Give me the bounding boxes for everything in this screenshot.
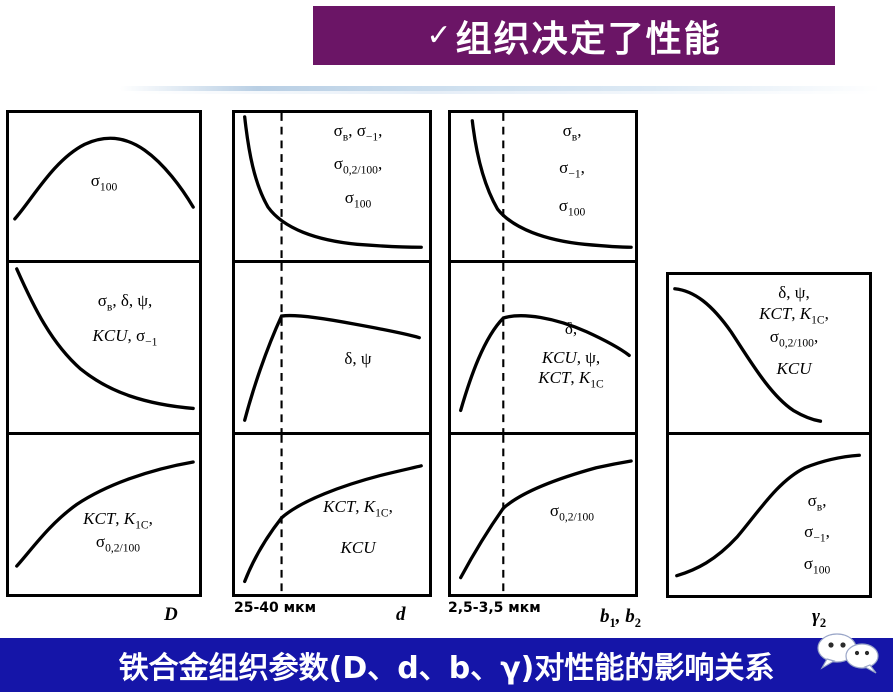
panel-label-D-2: σв, δ, ψ, KCU, σ−1 <box>55 291 195 350</box>
panel-label-b-2: δ, KCU, ψ, KCT, K1C <box>511 319 631 392</box>
page-title: 组织决定了性能 <box>456 10 722 62</box>
chart-column-b: σв, σ−1, σ100 δ, KCU, ψ, KCT, K1C σ0,2 <box>448 110 638 597</box>
range-note-d: 25-40 мкм <box>234 600 316 616</box>
axis-label-b: b1, b2 <box>600 606 641 631</box>
panel-label-g-1: δ, ψ, KCT, K1C, σ0,2/100, KCU <box>723 283 865 379</box>
footer-bar: 铁合金组织参数(D、d、b、γ)对性能的影响关系 <box>0 638 893 692</box>
panel-label-D-1: σ100 <box>9 171 199 194</box>
wechat-icon <box>807 628 887 674</box>
footer-caption: 铁合金组织参数(D、d、b、γ)对性能的影响关系 <box>119 643 775 687</box>
header-banner: ✓ 组织决定了性能 <box>313 6 835 65</box>
panel-D-1: σ100 <box>6 110 202 260</box>
panel-label-d-1: σв, σ−1, σ0,2/100, σ100 <box>291 121 425 211</box>
chart-column-D: σ100 σв, δ, ψ, KCU, σ−1 KCT, K1C, σ0,2/1… <box>6 110 202 597</box>
chart-column-gamma: δ, ψ, KCT, K1C, σ0,2/100, KCU σв, σ−1, σ… <box>666 272 872 598</box>
figure-canvas: σ100 σв, δ, ψ, KCU, σ−1 KCT, K1C, σ0,2/1… <box>0 96 893 626</box>
panel-g-2: σв, σ−1, σ100 <box>666 432 872 598</box>
panel-D-3: KCT, K1C, σ0,2/100 <box>6 432 202 597</box>
axis-label-D: D <box>164 604 178 626</box>
check-icon: ✓ <box>426 18 451 53</box>
panel-b-2: δ, KCU, ψ, KCT, K1C <box>448 260 638 432</box>
panel-label-b-3: σ0,2/100 <box>513 501 631 524</box>
panel-d-3: KCT, K1C, KCU <box>232 432 432 597</box>
axis-label-d: d <box>396 604 406 626</box>
panel-label-d-2: δ, ψ <box>291 349 425 370</box>
panel-label-b-1: σв, σ−1, σ100 <box>513 121 631 219</box>
panel-D-2: σв, δ, ψ, KCU, σ−1 <box>6 260 202 432</box>
panel-label-d-3: KCT, K1C, KCU <box>291 497 425 559</box>
panel-b-1: σв, σ−1, σ100 <box>448 110 638 260</box>
panel-d-2: δ, ψ <box>232 260 432 432</box>
panel-label-g-2: σв, σ−1, σ100 <box>769 491 865 577</box>
panel-label-D-3: KCT, K1C, σ0,2/100 <box>41 509 195 556</box>
panel-d-1: σв, σ−1, σ0,2/100, σ100 <box>232 110 432 260</box>
header-divider-line-secondary <box>130 91 875 94</box>
panel-b-3: σ0,2/100 <box>448 432 638 597</box>
panel-g-1: δ, ψ, KCT, K1C, σ0,2/100, KCU <box>666 272 872 432</box>
chart-column-d: σв, σ−1, σ0,2/100, σ100 δ, ψ KCT, K1C, K… <box>232 110 432 597</box>
range-note-b: 2,5-3,5 мкм <box>448 600 541 616</box>
